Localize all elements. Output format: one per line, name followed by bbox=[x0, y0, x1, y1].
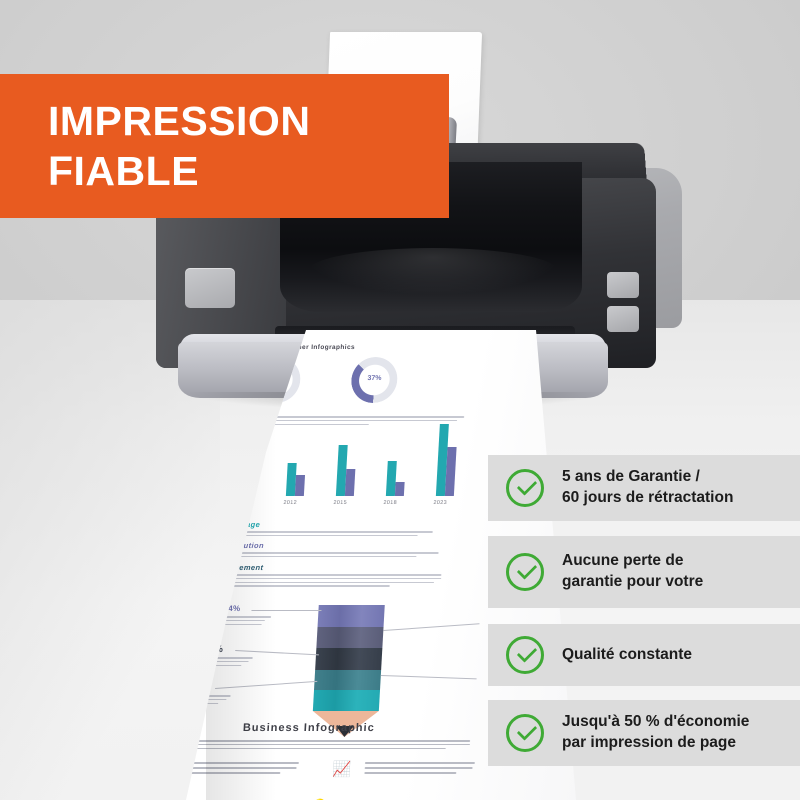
pencil-segment-3 bbox=[315, 648, 382, 670]
bar-chart-xtick-2012: 2012 bbox=[283, 500, 297, 506]
check-circle-icon bbox=[506, 636, 544, 674]
feature-callout-2[interactable]: Aucune perte de garantie pour votre bbox=[488, 536, 800, 608]
bar-chart-xtick-2023: 2023 bbox=[433, 500, 447, 506]
check-circle-icon bbox=[506, 714, 544, 752]
feature-callout-3[interactable]: Qualité constante bbox=[488, 624, 800, 686]
bar-chart-xtick-2018: 2018 bbox=[383, 500, 397, 506]
pencil-leader-line-right-1 bbox=[383, 623, 479, 631]
check-circle-icon bbox=[506, 469, 544, 507]
bar-2018-step02 bbox=[395, 482, 405, 496]
bar-2015-step02 bbox=[345, 469, 356, 496]
headline-banner: IMPRESSION FIABLE bbox=[0, 74, 449, 218]
check-circle-icon bbox=[506, 553, 544, 591]
printout-feature-text-2 bbox=[364, 762, 475, 777]
bar-2023-step02 bbox=[445, 447, 457, 496]
feature-callout-1[interactable]: 5 ans de Garantie / 60 jours de rétracta… bbox=[488, 455, 800, 521]
pencil-infographic bbox=[312, 605, 385, 729]
feature-callout-1-label: 5 ans de Garantie / 60 jours de rétracta… bbox=[562, 467, 733, 508]
donut-chart-2-label: 37% bbox=[351, 375, 397, 382]
poster-canvas: Banner Infographics 35% 37% Step 01 Step… bbox=[0, 0, 800, 800]
feature-callout-4[interactable]: Jusqu'à 50 % d'économie par impression d… bbox=[488, 700, 800, 766]
growth-chart-icon: 📈 bbox=[332, 760, 352, 778]
feature-callout-4-label: Jusqu'à 50 % d'économie par impression d… bbox=[562, 712, 749, 753]
printer-gloss-highlight bbox=[308, 248, 558, 294]
pencil-leader-line-right-2 bbox=[381, 675, 477, 679]
printer-control-button-2[interactable] bbox=[607, 306, 639, 332]
bar-2012-step02 bbox=[295, 475, 305, 496]
printer-power-button[interactable] bbox=[185, 268, 235, 308]
printer-control-button-1[interactable] bbox=[607, 272, 639, 298]
pencil-segment-1 bbox=[318, 605, 385, 627]
pencil-segment-2 bbox=[316, 627, 383, 648]
bar-chart-xtick-2015: 2015 bbox=[333, 500, 347, 506]
pencil-segment-4 bbox=[314, 670, 381, 690]
feature-callout-2-label: Aucune perte de garantie pour votre bbox=[562, 551, 703, 592]
page-title: IMPRESSION FIABLE bbox=[48, 96, 310, 196]
pencil-segment-5 bbox=[313, 690, 380, 711]
feature-callout-3-label: Qualité constante bbox=[562, 645, 692, 666]
